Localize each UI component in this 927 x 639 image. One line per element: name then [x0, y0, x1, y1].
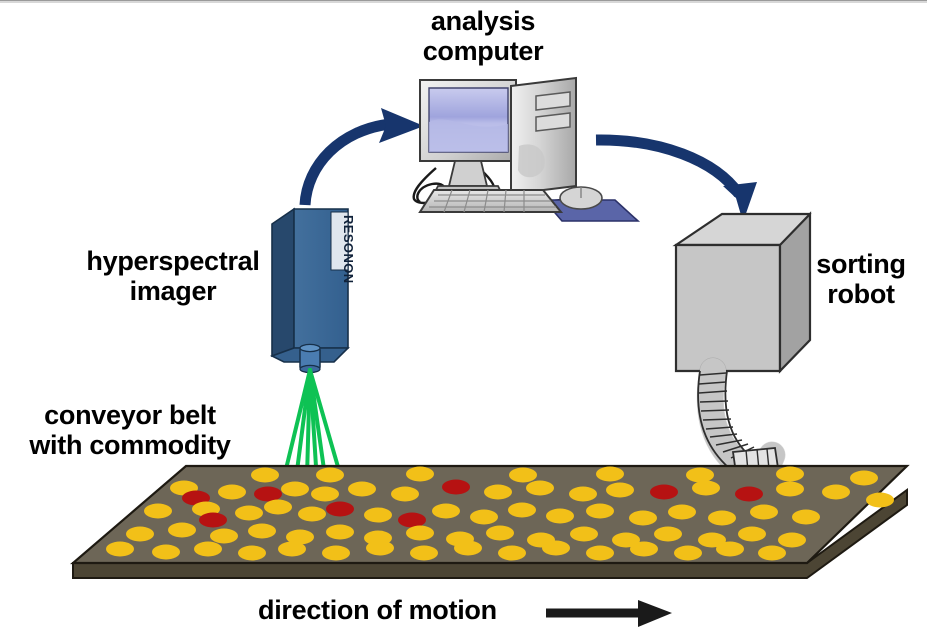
computer-monitor	[420, 80, 516, 196]
analysis-computer-graphic	[414, 78, 638, 221]
computer-mouse	[560, 187, 602, 209]
label-direction-of-motion: direction of motion	[258, 595, 558, 625]
label-hyperspectral-imager: hyperspectral imager	[58, 246, 288, 306]
computer-tower	[511, 78, 576, 194]
label-sorting-robot: sorting robot	[796, 249, 926, 309]
sorting-robot-graphic	[676, 214, 810, 500]
label-conveyor-belt: conveyor belt with commodity	[6, 400, 254, 460]
diagram-graphics: RESONON	[0, 0, 927, 639]
arrow-imager-to-computer	[305, 108, 424, 205]
computer-keyboard	[420, 190, 561, 212]
direction-of-motion-arrow	[546, 600, 672, 627]
camera-brand-text: RESONON	[341, 215, 356, 284]
label-analysis-computer: analysis computer	[383, 6, 583, 66]
diagram-canvas: RESONON	[0, 0, 927, 639]
